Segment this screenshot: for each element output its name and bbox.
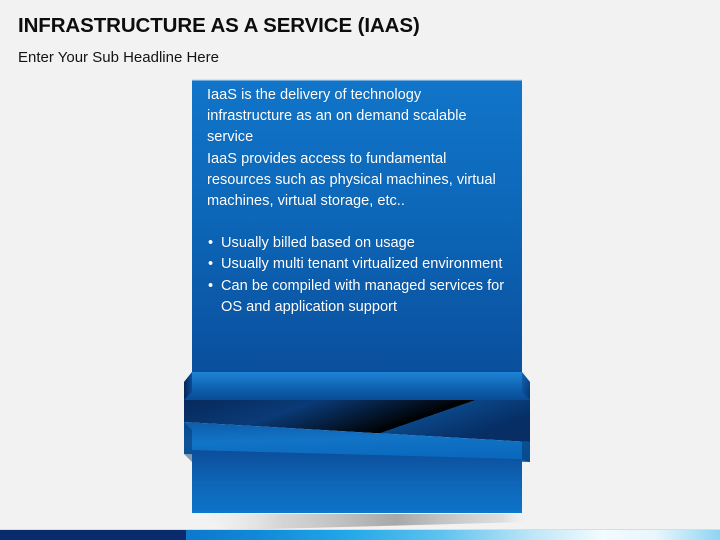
list-item: Usually multi tenant virtualized environ…: [207, 254, 507, 275]
banner-text-block: IaaS is the delivery of technology infra…: [207, 85, 507, 318]
bottom-strip-navy-segment: [0, 530, 186, 540]
banner-paragraph-2: IaaS provides access to fundamental reso…: [207, 149, 507, 213]
banner-paragraph-1: IaaS is the delivery of technology infra…: [207, 85, 507, 149]
page-subtitle: Enter Your Sub Headline Here: [18, 49, 219, 66]
slide-canvas: INFRASTRUCTURE AS A SERVICE (IAAS) Enter…: [0, 0, 720, 540]
page-title: INFRASTRUCTURE AS A SERVICE (IAAS): [18, 14, 420, 38]
bottom-strip-gradient-segment: [186, 530, 720, 540]
bottom-decor-strip: [0, 530, 720, 540]
banner-bullet-list: Usually billed based on usage Usually mu…: [207, 233, 507, 318]
list-item: Can be compiled with managed services fo…: [207, 276, 507, 318]
list-item: Usually billed based on usage: [207, 233, 507, 254]
